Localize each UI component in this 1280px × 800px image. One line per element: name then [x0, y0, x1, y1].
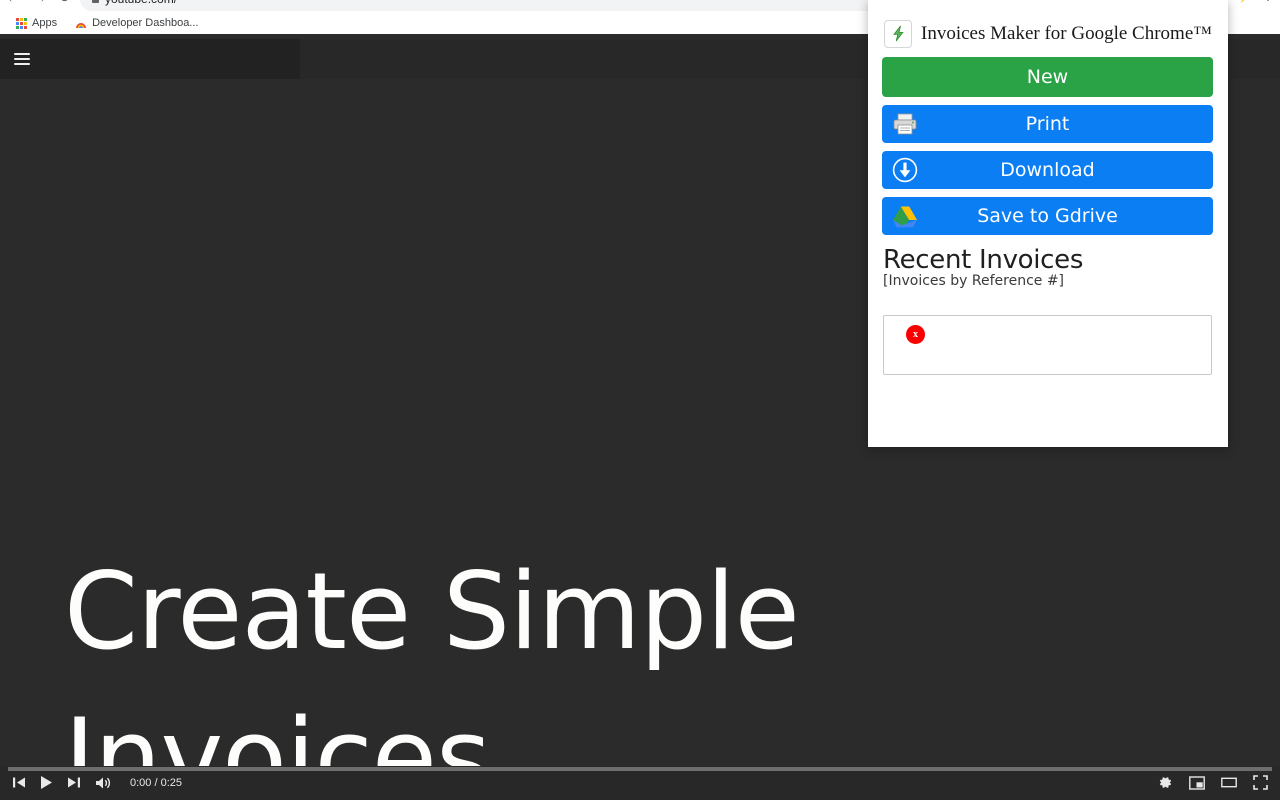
list-item: x — [906, 325, 933, 344]
apps-grid-icon — [16, 18, 27, 29]
forward-arrow-icon[interactable]: → — [32, 0, 47, 5]
recent-invoices-subtitle: [Invoices by Reference #] — [883, 273, 1212, 290]
download-button-label: Download — [1000, 159, 1094, 181]
hamburger-menu-icon — [14, 53, 30, 65]
time-display: 0:00 / 0:25 — [130, 777, 182, 789]
print-button[interactable]: Print — [882, 105, 1213, 143]
fullscreen-button[interactable] — [1253, 775, 1268, 790]
google-drive-icon — [890, 201, 920, 231]
play-button[interactable] — [40, 775, 53, 790]
player-control-bar: 0:00 / 0:25 — [0, 766, 1280, 800]
extension-header: Invoices Maker for Google Chrome™ — [881, 9, 1214, 49]
delete-invoice-button[interactable]: x — [906, 325, 925, 344]
bookmark-label: Apps — [32, 17, 57, 29]
player-controls-left: 0:00 / 0:25 — [12, 775, 182, 790]
gear-icon — [1158, 775, 1173, 790]
recent-invoices-header: Recent Invoices [Invoices by Reference #… — [881, 235, 1214, 290]
previous-button[interactable] — [12, 776, 26, 789]
guide-button[interactable] — [0, 39, 44, 79]
new-invoice-button[interactable]: New — [882, 57, 1213, 97]
fullscreen-icon — [1253, 775, 1268, 790]
player-controls-right — [1158, 775, 1268, 790]
extension-title: Invoices Maker for Google Chrome™ — [921, 23, 1212, 45]
gdrive-button-label: Save to Gdrive — [977, 205, 1118, 227]
invoices-maker-extension-icon[interactable]: ⚡ — [1237, 0, 1253, 4]
progress-scrubber[interactable] — [8, 767, 1272, 771]
chrome-menu-icon[interactable]: ⋮ — [1262, 0, 1274, 3]
next-track-icon — [67, 776, 81, 789]
new-button-label: New — [1027, 66, 1068, 88]
developer-dashboard-icon — [75, 18, 87, 29]
back-arrow-icon[interactable]: ← — [6, 0, 21, 5]
video-headline-text: Create Simple Invoices Today. — [64, 539, 1184, 800]
download-button[interactable]: Download — [882, 151, 1213, 189]
green-lightning-bolt-icon — [884, 20, 912, 48]
bookmark-apps[interactable]: Apps — [10, 15, 63, 31]
extension-popup-body: Invoices Maker for Google Chrome™ New — [881, 9, 1214, 438]
extension-popup: Invoices Maker for Google Chrome™ New — [868, 0, 1228, 447]
reload-icon[interactable]: ↻ — [58, 0, 71, 5]
printer-icon — [890, 109, 920, 139]
lock-icon — [92, 0, 99, 3]
volume-button[interactable] — [95, 776, 112, 790]
bookmark-label: Developer Dashboa... — [92, 17, 198, 29]
download-circle-icon — [890, 155, 920, 185]
recent-invoices-list: x — [883, 315, 1212, 375]
miniplayer-button[interactable] — [1189, 776, 1205, 790]
save-to-gdrive-button[interactable]: Save to Gdrive — [882, 197, 1213, 235]
theater-button[interactable] — [1221, 776, 1237, 789]
print-button-label: Print — [1026, 113, 1070, 135]
bookmark-developer-dashboard[interactable]: Developer Dashboa... — [69, 15, 204, 31]
theater-mode-icon — [1221, 776, 1237, 789]
masthead-left-fill — [44, 39, 300, 79]
url-text: youtube.com/ — [105, 0, 177, 6]
next-button[interactable] — [67, 776, 81, 789]
recent-invoices-title: Recent Invoices — [883, 247, 1212, 274]
navigation-buttons: ← → ↻ — [6, 0, 71, 5]
extension-action-buttons: New Print — [881, 49, 1214, 235]
miniplayer-icon — [1189, 776, 1205, 790]
play-icon — [40, 775, 53, 790]
screen: Create Simple Invoices Today. — [0, 0, 1280, 800]
previous-track-icon — [12, 776, 26, 789]
volume-icon — [95, 776, 112, 790]
settings-button[interactable] — [1158, 775, 1173, 790]
